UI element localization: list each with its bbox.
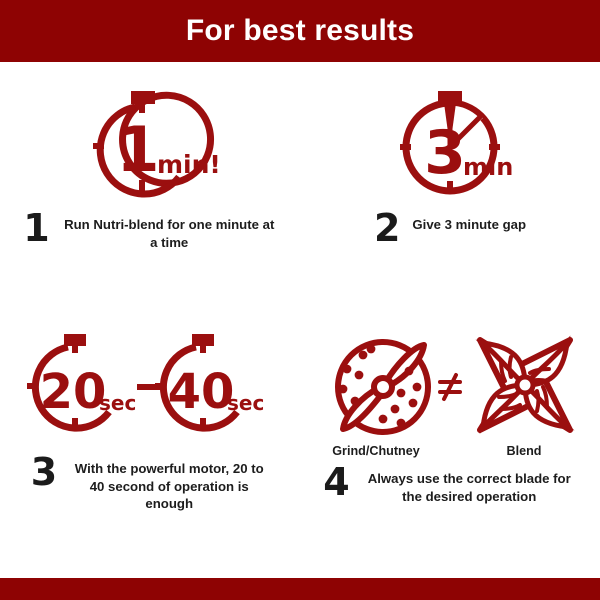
step-card-4: Grind/Chutney Blend 4 Always use the cor… — [300, 320, 600, 578]
stopwatch-1-value: 1 — [116, 113, 159, 186]
stopwatch-1-unit: min! — [157, 150, 221, 179]
step-3-text: With the powerful motor, 20 to 40 second… — [69, 454, 269, 513]
grind-chutney-blade-icon — [338, 342, 428, 432]
stopwatch-40-value: 40 — [168, 364, 235, 420]
stopwatch-1-min-icon: 1 min! — [75, 85, 225, 203]
blend-label: Blend — [474, 444, 574, 458]
step-2-caption: 2 Give 3 minute gap — [300, 210, 600, 246]
header-bar: For best results — [0, 0, 600, 62]
step-1-caption: 1 Run Nutri-blend for one minute at a ti… — [0, 210, 300, 251]
step-2-text: Give 3 minute gap — [412, 210, 526, 234]
step-1-artwork: 1 min! — [75, 84, 225, 204]
step-3-number: 3 — [31, 454, 57, 490]
step-card-2: 3 min 2 Give 3 minute gap — [300, 62, 600, 320]
blade-comparison-icon — [325, 335, 575, 443]
step-card-3: 20 sec 40 sec — [0, 320, 300, 578]
stopwatch-3-min-icon: 3 min — [375, 85, 525, 203]
stopwatch-40-unit: sec — [227, 391, 264, 415]
blend-blade-icon — [480, 340, 570, 430]
blade-labels-row: Grind/Chutney Blend — [326, 444, 574, 458]
step-2-number: 2 — [374, 210, 400, 246]
step-1-number: 1 — [23, 210, 49, 246]
infographic-page: For best results — [0, 0, 600, 600]
page-title: For best results — [186, 16, 414, 46]
stopwatch-3-value: 3 — [424, 118, 466, 188]
stopwatch-20-unit: sec — [99, 391, 136, 415]
step-4-caption: 4 Always use the correct blade for the d… — [300, 464, 600, 505]
stopwatch-3-unit: min — [463, 153, 513, 181]
stopwatch-range-icon: 20 sec 40 sec — [15, 334, 285, 444]
step-1-text: Run Nutri-blend for one minute at a time — [62, 210, 277, 251]
step-2-artwork: 3 min — [375, 84, 525, 204]
step-4-text: Always use the correct blade for the des… — [362, 464, 577, 505]
stopwatch-20-value: 20 — [40, 364, 107, 420]
not-equal-icon — [440, 375, 460, 399]
grind-chutney-label: Grind/Chutney — [326, 444, 426, 458]
step-4-artwork — [325, 330, 575, 448]
step-4-number: 4 — [323, 464, 349, 500]
step-card-1: 1 min! 1 Run Nutri-blend for one minute … — [0, 62, 300, 320]
footer-bar — [0, 578, 600, 600]
step-3-artwork: 20 sec 40 sec — [15, 330, 285, 448]
steps-grid: 1 min! 1 Run Nutri-blend for one minute … — [0, 62, 600, 578]
step-3-caption: 3 With the powerful motor, 20 to 40 seco… — [0, 454, 300, 513]
